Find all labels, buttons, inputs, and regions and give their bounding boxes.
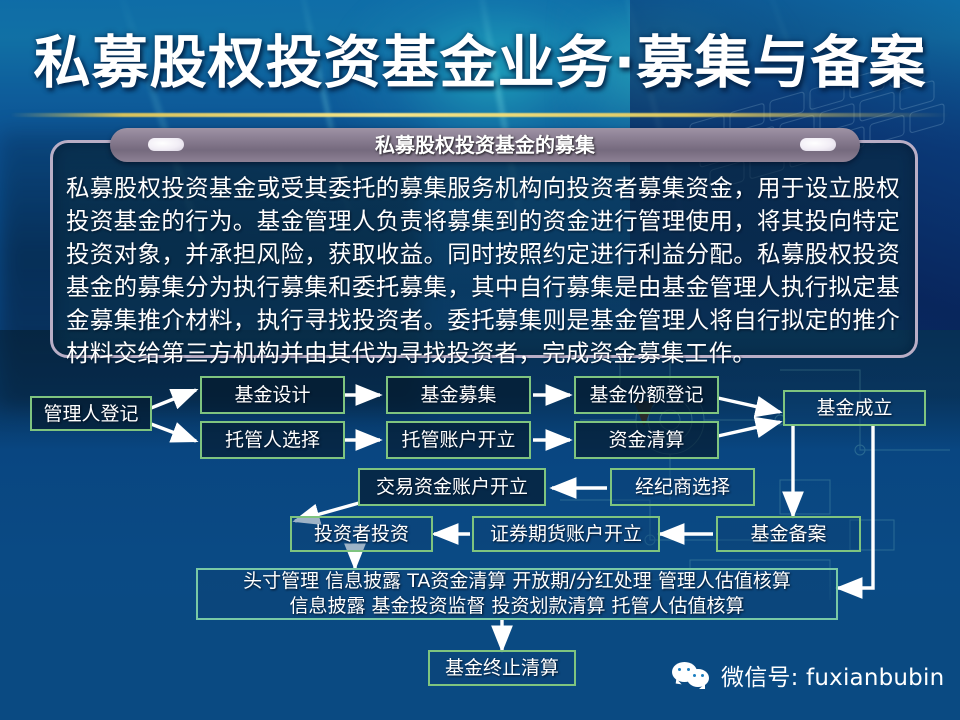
- title-underline: [10, 113, 950, 117]
- flow-node-label: 基金终止清算: [445, 657, 559, 679]
- watermark: 微信号: fuxianbubin: [672, 658, 944, 692]
- flow-node-label: 托管账户开立: [401, 429, 515, 451]
- flow-node-label: 基金设计: [234, 384, 310, 406]
- flow-node-trade-acct[interactable]: 交易资金账户开立: [358, 468, 546, 506]
- flow-node-broker-select[interactable]: 经纪商选择: [610, 468, 755, 506]
- flow-node-label: 证券期货账户开立: [490, 523, 642, 545]
- flow-node-share-reg[interactable]: 基金份额登记: [574, 376, 719, 414]
- flow-node-custodian-select[interactable]: 托管人选择: [200, 421, 345, 459]
- flow-node-label: 基金募集: [420, 384, 496, 406]
- definition-panel-heading: 私募股权投资基金的募集: [110, 133, 860, 157]
- flow-node-fund-settle[interactable]: 资金清算: [574, 421, 719, 459]
- operations-line-1: 头寸管理 信息披露 TA资金清算 开放期/分红处理 管理人估值核算: [243, 569, 791, 594]
- slide-canvas: 私募股权投资基金业务·募集与备案 私募股权投资基金的募集 私募股权投资基金或受其…: [0, 0, 960, 720]
- flow-node-label: 交易资金账户开立: [376, 476, 528, 498]
- flow-node-label: 管理人登记: [43, 403, 138, 425]
- flow-node-label: 基金备案: [750, 523, 826, 545]
- flow-node-manager-reg[interactable]: 管理人登记: [30, 396, 152, 431]
- flow-node-fund-est[interactable]: 基金成立: [783, 390, 926, 426]
- flow-node-label: 托管人选择: [225, 429, 320, 451]
- flow-node-label: 基金份额登记: [589, 384, 703, 406]
- flow-node-fund-terminate[interactable]: 基金终止清算: [428, 650, 576, 686]
- flow-node-label: 经纪商选择: [635, 476, 730, 498]
- flow-node-investor-invest[interactable]: 投资者投资: [290, 516, 433, 552]
- flow-node-operations[interactable]: 头寸管理 信息披露 TA资金清算 开放期/分红处理 管理人估值核算 信息披露 基…: [196, 568, 838, 620]
- flow-node-sec-fut-acct[interactable]: 证券期货账户开立: [472, 516, 660, 552]
- flow-node-fund-filing[interactable]: 基金备案: [716, 516, 861, 552]
- flow-node-custody-acct[interactable]: 托管账户开立: [386, 421, 531, 459]
- page-title: 私募股权投资基金业务·募集与备案: [0, 32, 960, 94]
- definition-panel-body: 私募股权投资基金或受其委托的募集服务机构向投资者募集资金，用于设立股权投资基金的…: [66, 172, 900, 370]
- flow-node-label: 基金成立: [816, 397, 892, 419]
- watermark-label: 微信号: fuxianbubin: [721, 658, 944, 692]
- wechat-icon: [672, 660, 712, 690]
- flow-node-label: 资金清算: [608, 429, 684, 451]
- flow-node-label: 投资者投资: [314, 523, 409, 545]
- operations-line-2: 信息披露 基金投资监督 投资划款清算 托管人估值核算: [289, 594, 744, 619]
- flow-node-fund-raise[interactable]: 基金募集: [386, 376, 531, 414]
- flow-node-fund-design[interactable]: 基金设计: [200, 376, 345, 414]
